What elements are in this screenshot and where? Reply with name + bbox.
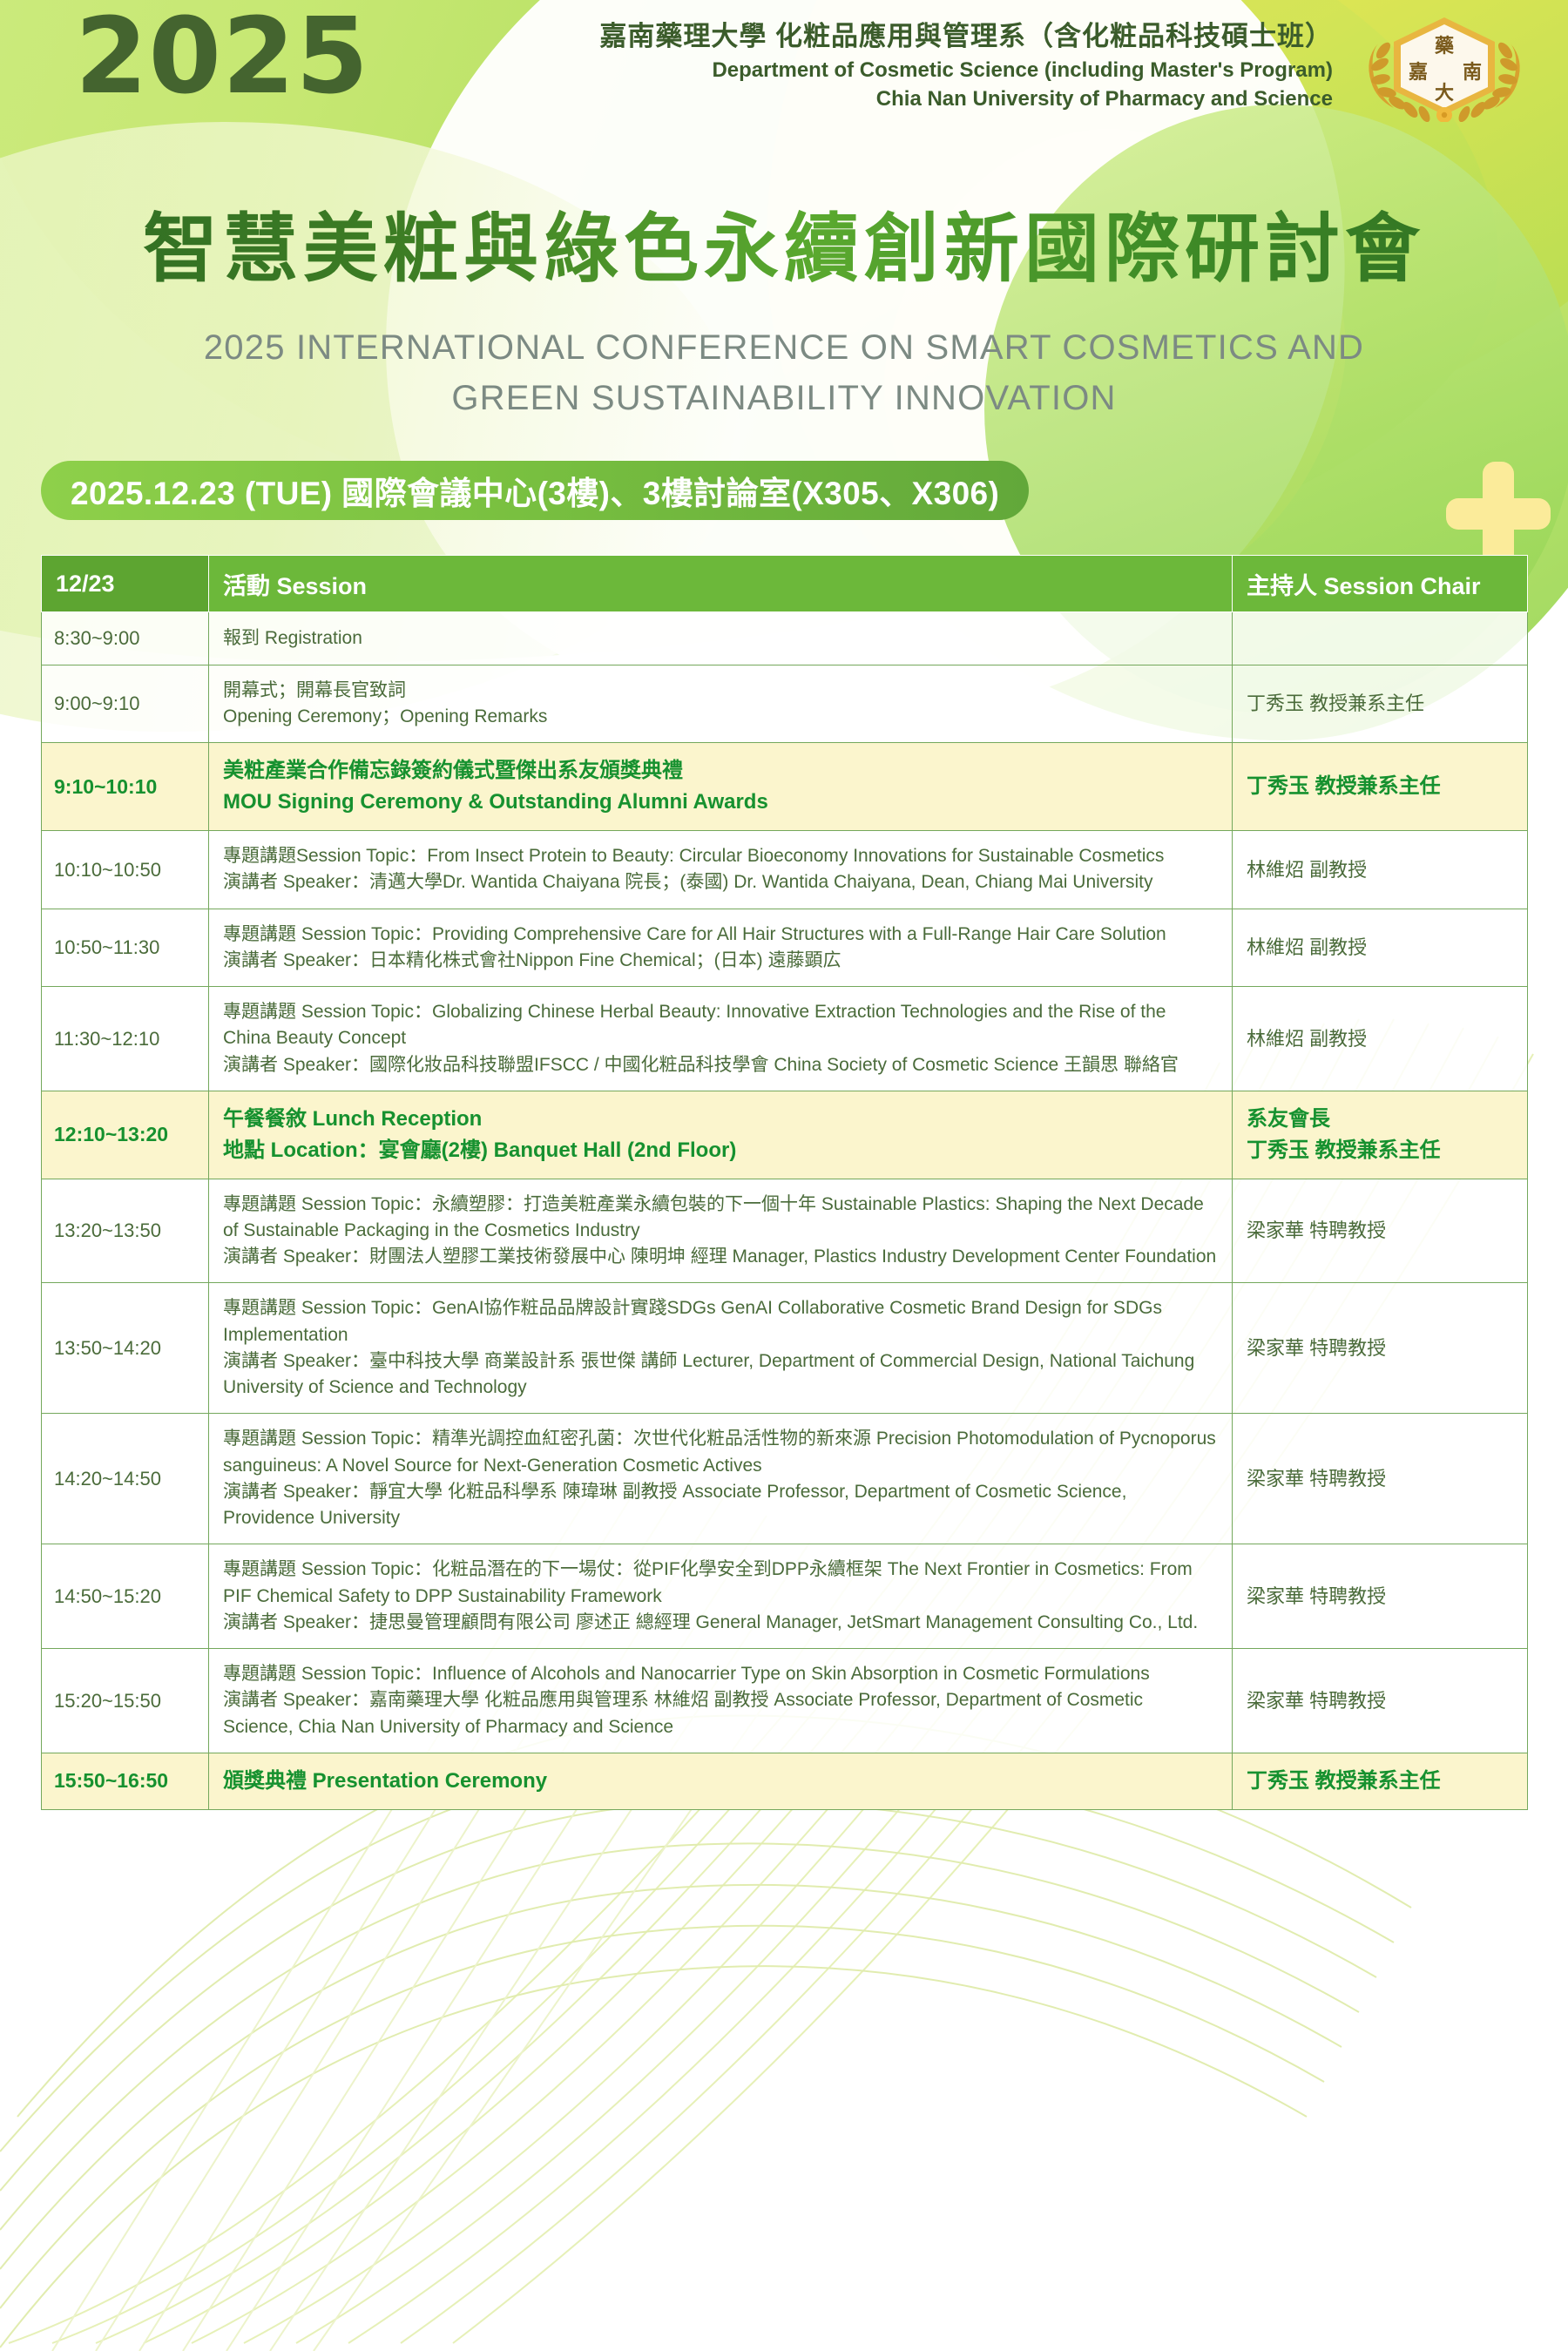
table-row: 15:50~16:50頒獎典禮 Presentation Ceremony丁秀玉…: [42, 1753, 1528, 1809]
logo-char-right: 南: [1463, 62, 1482, 84]
session-line: 專題講題 Session Topic：化粧品潛在的下一場仗：從PIF化學安全到D…: [223, 1557, 1218, 1609]
session-time: 15:20~15:50: [42, 1649, 209, 1753]
university-name-en: Chia Nan University of Pharmacy and Scie…: [383, 85, 1333, 113]
session-description: 專題講題 Session Topic：Globalizing Chinese H…: [209, 987, 1233, 1091]
date-venue-text: 2025.12.23 (TUE) 國際會議中心(3樓)、3樓討論室(X305、X…: [71, 467, 999, 514]
year-heading: 2025: [75, 5, 369, 110]
table-row: 13:20~13:50專題講題 Session Topic：永續塑膠：打造美粧產…: [42, 1179, 1528, 1283]
session-line: 地點 Location：宴會廳(2樓) Banquet Hall (2nd Fl…: [223, 1135, 1218, 1166]
session-line: 報到 Registration: [223, 625, 1218, 652]
session-chair-line: 丁秀玉 教授兼系主任: [1247, 1766, 1513, 1797]
session-line: 演講者 Speaker：日本精化株式會社Nippon Fine Chemical…: [223, 948, 1218, 974]
session-chair-line: 林維炤 副教授: [1247, 856, 1513, 884]
plus-decoration-icon: [1446, 462, 1551, 566]
session-chair-line: 梁家華 特聘教授: [1247, 1465, 1513, 1493]
table-row: 15:20~15:50專題講題 Session Topic：Influence …: [42, 1649, 1528, 1753]
table-row: 10:10~10:50專題講題Session Topic：From Insect…: [42, 831, 1528, 909]
session-time: 13:20~13:50: [42, 1179, 209, 1283]
session-description: 專題講題 Session Topic：精準光調控血紅密孔菌：次世代化粧品活性物的…: [209, 1414, 1233, 1544]
session-time: 14:50~15:20: [42, 1544, 209, 1649]
session-chair: 林維炤 副教授: [1233, 909, 1528, 986]
session-description: 開幕式；開幕長官致詞Opening Ceremony；Opening Remar…: [209, 665, 1233, 742]
session-line: 演講者 Speaker：財團法人塑膠工業技術發展中心 陳明坤 經理 Manage…: [223, 1244, 1218, 1270]
session-description: 專題講題 Session Topic：GenAI協作粧品品牌設計實踐SDGs G…: [209, 1283, 1233, 1414]
session-chair-line: 丁秀玉 教授兼系主任: [1247, 690, 1513, 718]
table-header-row: 12/23 活動 Session 主持人 Session Chair: [42, 556, 1528, 612]
column-header-session: 活動 Session: [209, 556, 1233, 612]
department-name-zh: 嘉南藥理大學 化粧品應用與管理系（含化粧品科技碩士班）: [383, 19, 1333, 54]
session-chair-line: 丁秀玉 教授兼系主任: [1247, 771, 1513, 802]
session-time: 8:30~9:00: [42, 612, 209, 665]
session-chair: 系友會長丁秀玉 教授兼系主任: [1233, 1091, 1528, 1179]
session-chair: 林維炤 副教授: [1233, 987, 1528, 1091]
session-chair: 丁秀玉 教授兼系主任: [1233, 1753, 1528, 1809]
conference-title-en-line1: 2025 INTERNATIONAL CONFERENCE ON SMART C…: [87, 322, 1481, 373]
session-line: 專題講題 Session Topic：Globalizing Chinese H…: [223, 999, 1218, 1051]
session-line: 演講者 Speaker：嘉南藥理大學 化粧品應用與管理系 林維炤 副教授 Ass…: [223, 1687, 1218, 1740]
session-line: Opening Ceremony；Opening Remarks: [223, 704, 1218, 730]
session-description: 專題講題 Session Topic：Influence of Alcohols…: [209, 1649, 1233, 1753]
session-line: 專題講題 Session Topic：Providing Comprehensi…: [223, 922, 1218, 948]
session-time: 12:10~13:20: [42, 1091, 209, 1179]
session-chair-line: 林維炤 副教授: [1247, 1025, 1513, 1053]
table-row: 14:50~15:20專題講題 Session Topic：化粧品潛在的下一場仗…: [42, 1544, 1528, 1649]
session-chair-line: 梁家華 特聘教授: [1247, 1583, 1513, 1611]
session-time: 10:10~10:50: [42, 831, 209, 909]
department-block: 嘉南藥理大學 化粧品應用與管理系（含化粧品科技碩士班） Department o…: [383, 19, 1333, 113]
session-description: 專題講題 Session Topic：化粧品潛在的下一場仗：從PIF化學安全到D…: [209, 1544, 1233, 1649]
session-chair: 丁秀玉 教授兼系主任: [1233, 743, 1528, 831]
session-line: 演講者 Speaker：國際化妝品科技聯盟IFSCC / 中國化粧品科技學會 C…: [223, 1052, 1218, 1078]
session-description: 美粧產業合作備忘錄簽約儀式暨傑出系友頒獎典禮MOU Signing Ceremo…: [209, 743, 1233, 831]
session-line: 開幕式；開幕長官致詞: [223, 678, 1218, 704]
session-description: 專題講題Session Topic：From Insect Protein to…: [209, 831, 1233, 909]
session-line: MOU Signing Ceremony & Outstanding Alumn…: [223, 787, 1218, 818]
conference-title-zh: 智慧美粧與綠色永續創新國際研討會: [0, 209, 1568, 290]
session-chair: 梁家華 特聘教授: [1233, 1283, 1528, 1414]
session-line: 專題講題 Session Topic：GenAI協作粧品品牌設計實踐SDGs G…: [223, 1295, 1218, 1348]
session-chair: 梁家華 特聘教授: [1233, 1649, 1528, 1753]
session-line: 演講者 Speaker：靜宜大學 化粧品科學系 陳瑋琳 副教授 Associat…: [223, 1479, 1218, 1531]
logo-char-bottom: 大: [1435, 83, 1454, 105]
session-chair-line: 系友會長: [1247, 1104, 1513, 1135]
session-line: 專題講題 Session Topic：精準光調控血紅密孔菌：次世代化粧品活性物的…: [223, 1426, 1218, 1478]
logo-char-left: 嘉: [1409, 62, 1428, 84]
session-chair: 梁家華 特聘教授: [1233, 1544, 1528, 1649]
session-chair-line: 林維炤 副教授: [1247, 934, 1513, 962]
session-time: 9:00~9:10: [42, 665, 209, 742]
conference-title-en-line2: GREEN SUSTAINABILITY INNOVATION: [87, 373, 1481, 423]
session-description: 午餐餐敘 Lunch Reception地點 Location：宴會廳(2樓) …: [209, 1091, 1233, 1179]
column-header-chair: 主持人 Session Chair: [1233, 556, 1528, 612]
session-chair-line: 梁家華 特聘教授: [1247, 1217, 1513, 1245]
session-line: 美粧產業合作備忘錄簽約儀式暨傑出系友頒獎典禮: [223, 755, 1218, 787]
session-time: 15:50~16:50: [42, 1753, 209, 1809]
session-chair: 梁家華 特聘教授: [1233, 1414, 1528, 1544]
university-logo-icon: 藥 嘉 南 大: [1348, 7, 1540, 122]
session-line: 專題講題 Session Topic：永續塑膠：打造美粧產業永續包裝的下一個十年…: [223, 1192, 1218, 1244]
session-line: 專題講題Session Topic：From Insect Protein to…: [223, 843, 1218, 869]
schedule-table-body: 8:30~9:00報到 Registration9:00~9:10開幕式；開幕長…: [42, 612, 1528, 1810]
table-row: 12:10~13:20午餐餐敘 Lunch Reception地點 Locati…: [42, 1091, 1528, 1179]
schedule-table: 12/23 活動 Session 主持人 Session Chair 8:30~…: [41, 555, 1528, 1810]
poster-header: 2025 嘉南藥理大學 化粧品應用與管理系（含化粧品科技碩士班） Departm…: [0, 0, 1568, 152]
table-row: 9:10~10:10美粧產業合作備忘錄簽約儀式暨傑出系友頒獎典禮MOU Sign…: [42, 743, 1528, 831]
session-line: 午餐餐敘 Lunch Reception: [223, 1104, 1218, 1135]
session-chair: 梁家華 特聘教授: [1233, 1179, 1528, 1283]
conference-poster: 2025 嘉南藥理大學 化粧品應用與管理系（含化粧品科技碩士班） Departm…: [0, 0, 1568, 2351]
session-description: 報到 Registration: [209, 612, 1233, 665]
session-chair: 丁秀玉 教授兼系主任: [1233, 665, 1528, 742]
table-row: 14:20~14:50專題講題 Session Topic：精準光調控血紅密孔菌…: [42, 1414, 1528, 1544]
session-line: 演講者 Speaker：清邁大學Dr. Wantida Chaiyana 院長；…: [223, 869, 1218, 895]
session-line: 演講者 Speaker：臺中科技大學 商業設計系 張世傑 講師 Lecturer…: [223, 1348, 1218, 1401]
table-row: 9:00~9:10開幕式；開幕長官致詞Opening Ceremony；Open…: [42, 665, 1528, 742]
session-line: 頒獎典禮 Presentation Ceremony: [223, 1766, 1218, 1797]
session-chair-line: 梁家華 特聘教授: [1247, 1334, 1513, 1362]
session-time: 14:20~14:50: [42, 1414, 209, 1544]
session-line: 演講者 Speaker：捷思曼管理顧問有限公司 廖述正 總經理 General …: [223, 1610, 1218, 1636]
conference-title-en: 2025 INTERNATIONAL CONFERENCE ON SMART C…: [87, 322, 1481, 423]
table-row: 11:30~12:10專題講題 Session Topic：Globalizin…: [42, 987, 1528, 1091]
department-name-en: Department of Cosmetic Science (includin…: [383, 57, 1333, 84]
session-description: 專題講題 Session Topic：永續塑膠：打造美粧產業永續包裝的下一個十年…: [209, 1179, 1233, 1283]
table-row: 8:30~9:00報到 Registration: [42, 612, 1528, 665]
date-venue-badge: 2025.12.23 (TUE) 國際會議中心(3樓)、3樓討論室(X305、X…: [41, 461, 1029, 520]
session-line: 專題講題 Session Topic：Influence of Alcohols…: [223, 1661, 1218, 1687]
table-row: 13:50~14:20專題講題 Session Topic：GenAI協作粧品品…: [42, 1283, 1528, 1414]
table-row: 10:50~11:30專題講題 Session Topic：Providing …: [42, 909, 1528, 986]
session-chair-line: 丁秀玉 教授兼系主任: [1247, 1135, 1513, 1166]
column-header-time: 12/23: [42, 556, 209, 612]
session-time: 13:50~14:20: [42, 1283, 209, 1414]
session-chair: [1233, 612, 1528, 665]
session-description: 專題講題 Session Topic：Providing Comprehensi…: [209, 909, 1233, 986]
session-chair-line: 梁家華 特聘教授: [1247, 1687, 1513, 1715]
session-time: 9:10~10:10: [42, 743, 209, 831]
session-time: 11:30~12:10: [42, 987, 209, 1091]
session-time: 10:50~11:30: [42, 909, 209, 986]
session-chair: 林維炤 副教授: [1233, 831, 1528, 909]
logo-char-top: 藥: [1434, 36, 1455, 57]
session-description: 頒獎典禮 Presentation Ceremony: [209, 1753, 1233, 1809]
